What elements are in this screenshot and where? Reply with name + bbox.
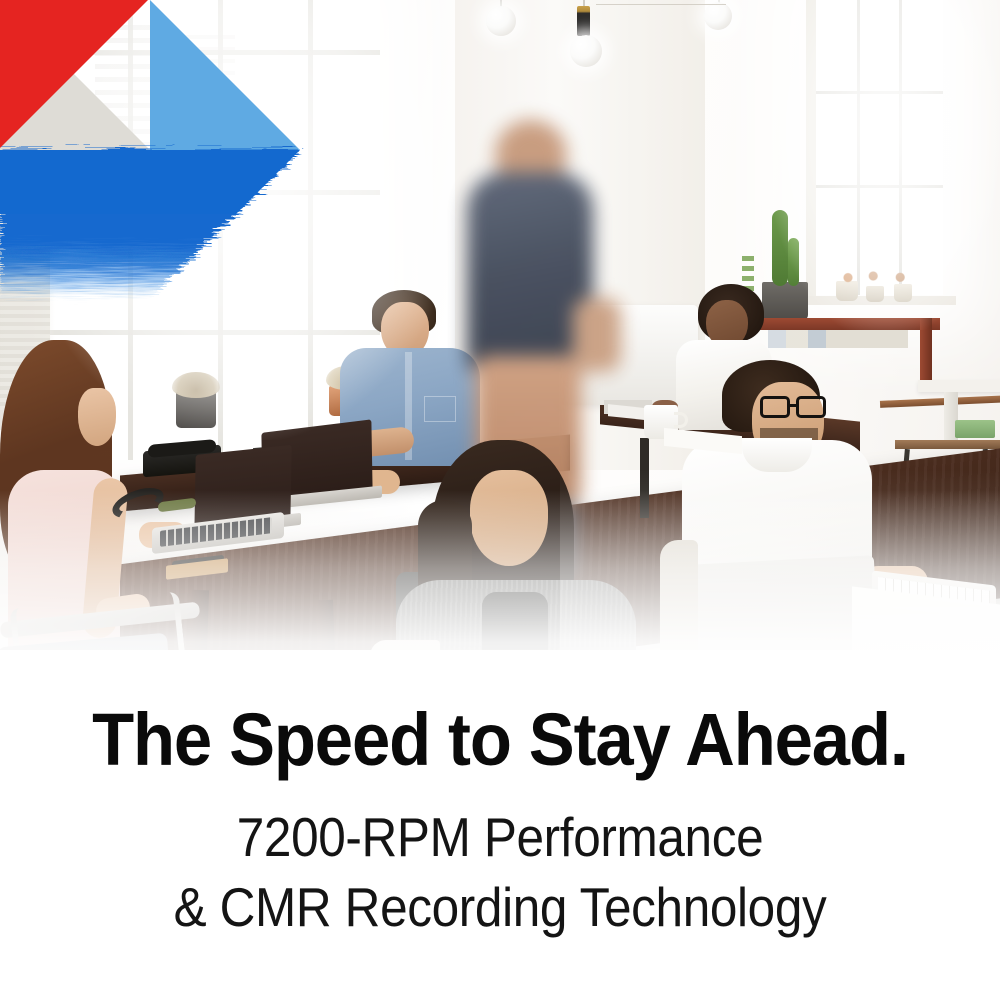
- green-box: [955, 420, 995, 438]
- pendant-bulb-2: [570, 35, 602, 67]
- pendant-bulb-1: [486, 6, 516, 36]
- shelf-books: [768, 330, 908, 348]
- brand-arrow-logo: [0, 0, 310, 310]
- poster-root: The Speed to Stay Ahead. 7200-RPM Perfor…: [0, 0, 1000, 1000]
- eyeglasses-icon: [760, 396, 830, 418]
- stool: [895, 440, 1000, 449]
- hero-text-block: The Speed to Stay Ahead. 7200-RPM Perfor…: [0, 700, 1000, 942]
- logo-dark-blue-arrow-top: [0, 150, 300, 214]
- subtitle-line-1: 7200-RPM Performance: [50, 802, 950, 872]
- page-title: The Speed to Stay Ahead.: [35, 700, 965, 780]
- side-table: [918, 380, 1000, 392]
- subtitle-line-2: & CMR Recording Technology: [50, 872, 950, 942]
- window-light-bloom-right: [770, 0, 1000, 330]
- logo-light-blue-triangle: [150, 0, 300, 150]
- pendant-socket-2: [577, 6, 590, 36]
